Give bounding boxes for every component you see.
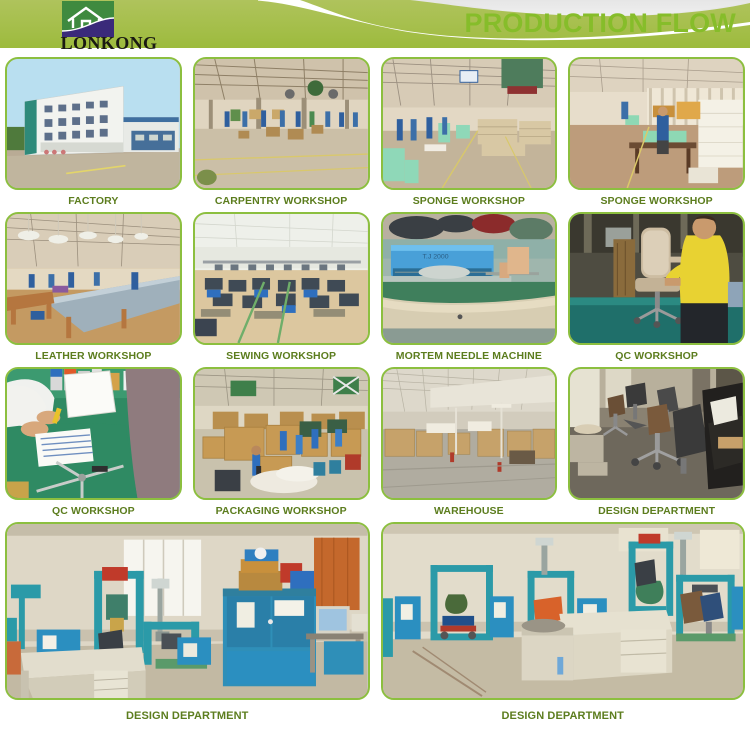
photo-design-department-chairs	[570, 369, 743, 498]
photo-factory-exterior	[7, 59, 180, 188]
photo-caption: FACTORY	[5, 190, 182, 212]
photo-leather-workshop	[7, 214, 180, 343]
photo-frame: T.J 2000	[381, 212, 558, 345]
photo-frame	[193, 57, 370, 190]
photo-warehouse	[383, 369, 556, 498]
production-flow-grid: FACTORY	[0, 57, 750, 755]
page-title: PRODUCTION FLOW	[465, 7, 736, 39]
photo-caption: SPONGE WORKSHOP	[568, 190, 745, 212]
photo-sewing-workshop	[195, 214, 368, 343]
photo-row: QC WORKSHOP	[0, 367, 750, 522]
photo-caption: LEATHER WORKSHOP	[5, 345, 182, 367]
brand-name: LONKONG	[44, 33, 174, 53]
photo-frame	[568, 367, 745, 500]
photo-card[interactable]: SEWING WORKSHOP	[193, 212, 370, 367]
photo-carpentry-workshop	[195, 59, 368, 188]
photo-frame	[5, 367, 182, 500]
photo-caption: DESIGN DEPARTMENT	[5, 700, 370, 730]
photo-row: FACTORY	[0, 57, 750, 212]
photo-frame	[568, 57, 745, 190]
photo-caption: DESIGN DEPARTMENT	[568, 500, 745, 522]
page-header: LONKONG PRODUCTION FLOW	[0, 0, 750, 57]
photo-card[interactable]: CARPENTRY WORKSHOP	[193, 57, 370, 212]
photo-card[interactable]: WAREHOUSE	[381, 367, 558, 522]
photo-caption: SEWING WORKSHOP	[193, 345, 370, 367]
photo-row: LEATHER WORKSHOP	[0, 212, 750, 367]
photo-row: DESIGN DEPARTMENT	[0, 522, 750, 732]
photo-caption: PACKAGING WORKSHOP	[193, 500, 370, 522]
photo-frame	[5, 212, 182, 345]
photo-caption: CARPENTRY WORKSHOP	[193, 190, 370, 212]
photo-card[interactable]: QC WORKSHOP	[568, 212, 745, 367]
photo-card[interactable]: QC WORKSHOP	[5, 367, 182, 522]
photo-sponge-workshop-b	[570, 59, 743, 188]
photo-design-department-lab-a	[7, 524, 368, 698]
photo-design-department-lab-b	[383, 524, 744, 698]
photo-sponge-workshop-a	[383, 59, 556, 188]
photo-caption: QC WORKSHOP	[568, 345, 745, 367]
photo-frame	[193, 367, 370, 500]
photo-card[interactable]: T.J 2000	[381, 212, 558, 367]
photo-frame	[193, 212, 370, 345]
photo-frame	[568, 212, 745, 345]
photo-packaging-workshop	[195, 369, 368, 498]
photo-card[interactable]: DESIGN DEPARTMENT	[5, 522, 370, 732]
photo-caption: QC WORKSHOP	[5, 500, 182, 522]
photo-qc-workshop-chair	[570, 214, 743, 343]
photo-caption: WAREHOUSE	[381, 500, 558, 522]
photo-frame	[381, 367, 558, 500]
photo-card[interactable]: DESIGN DEPARTMENT	[381, 522, 746, 732]
photo-frame	[5, 522, 370, 700]
photo-caption: SPONGE WORKSHOP	[381, 190, 558, 212]
photo-frame	[5, 57, 182, 190]
photo-mortem-needle-machine: T.J 2000	[383, 214, 556, 343]
house-logo-icon	[62, 1, 114, 37]
photo-card[interactable]: DESIGN DEPARTMENT	[568, 367, 745, 522]
photo-card[interactable]: LEATHER WORKSHOP	[5, 212, 182, 367]
photo-caption: MORTEM NEEDLE MACHINE	[381, 345, 558, 367]
photo-card[interactable]: FACTORY	[5, 57, 182, 212]
photo-card[interactable]: PACKAGING WORKSHOP	[193, 367, 370, 522]
photo-caption: DESIGN DEPARTMENT	[381, 700, 746, 730]
photo-card[interactable]: SPONGE WORKSHOP	[568, 57, 745, 212]
photo-frame	[381, 57, 558, 190]
photo-frame	[381, 522, 746, 700]
photo-qc-workshop-inspection	[7, 369, 180, 498]
brand-logo: LONKONG	[44, 0, 174, 57]
photo-card[interactable]: SPONGE WORKSHOP	[381, 57, 558, 212]
svg-text:T.J 2000: T.J 2000	[422, 254, 448, 261]
